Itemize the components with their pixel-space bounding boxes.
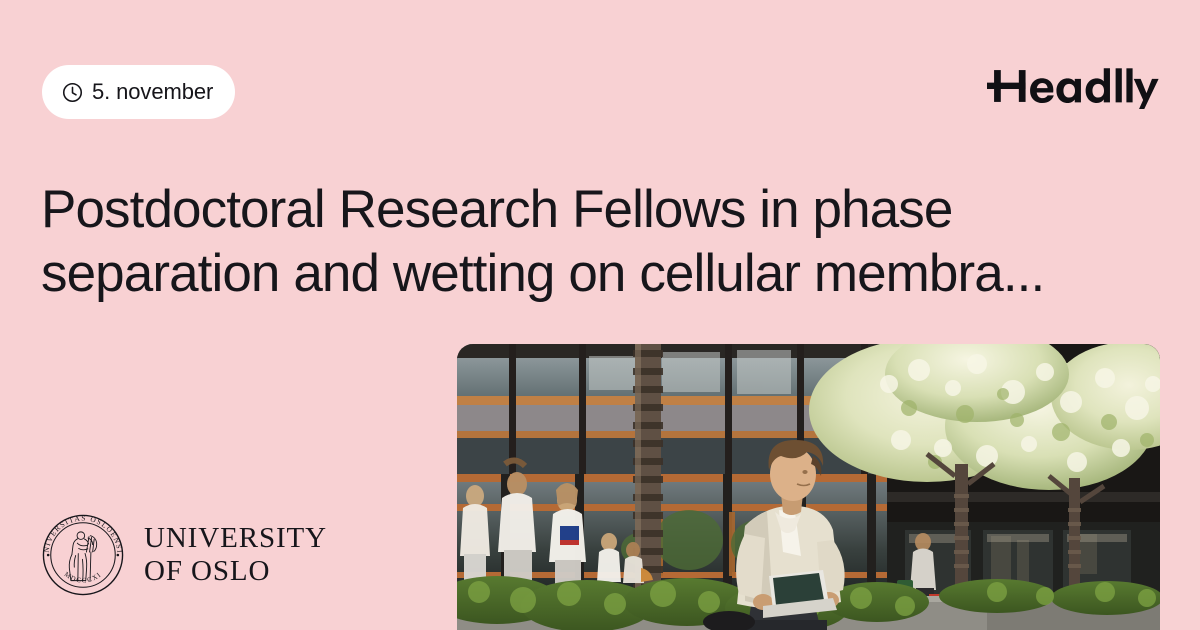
campus-photo-illustration — [457, 344, 1160, 630]
headly-logo[interactable]: Headly — [987, 63, 1160, 109]
date-label: 5. november — [92, 81, 213, 104]
svg-text:UNIVERSITAS OSLOENSIS: UNIVERSITAS OSLOENSIS — [40, 512, 124, 554]
university-seal-icon: UNIVERSITAS OSLOENSIS MDCCCXI — [40, 512, 126, 598]
article-image — [457, 344, 1160, 630]
date-badge: 5. november — [42, 65, 235, 119]
clock-icon — [62, 82, 83, 103]
page-title: Postdoctoral Research Fellows in phase s… — [41, 178, 1131, 306]
university-of-oslo-logo: UNIVERSITAS OSLOENSIS MDCCCXI — [40, 512, 327, 598]
university-name: UNIVERSITY OF OSLO — [144, 522, 327, 588]
social-share-card: 5. november Headly — [0, 0, 1200, 630]
headly-wordmark-icon — [987, 63, 1160, 109]
